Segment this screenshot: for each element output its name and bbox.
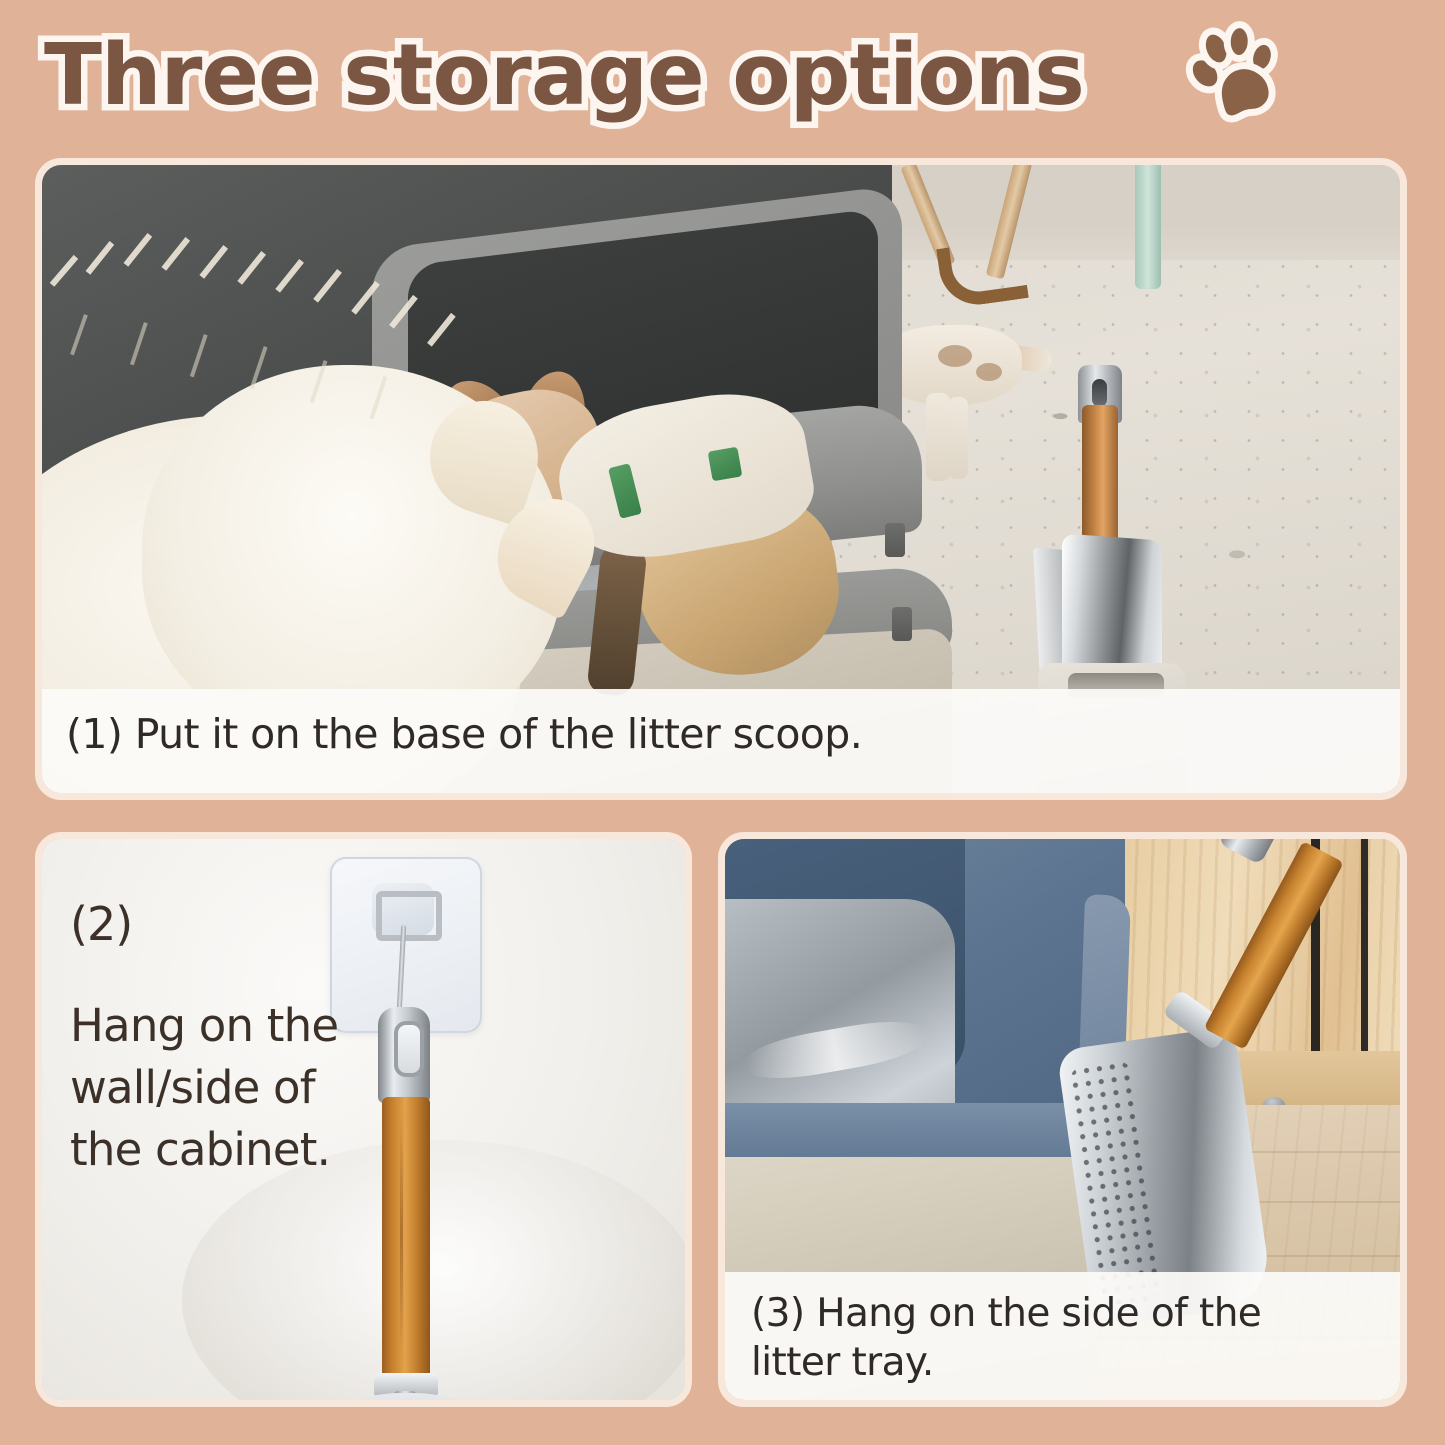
photo-option-3: (3) Hang on the side of the litter tray. [725, 839, 1400, 1400]
hook-ring-icon [376, 891, 442, 941]
option-2-line-2: wall/side of [70, 1057, 360, 1119]
caption-option-3-line-2: litter tray. [751, 1339, 1400, 1388]
wood-grain [400, 1115, 403, 1355]
litter-box-latch [892, 607, 912, 641]
caption-option-1: (1) Put it on the base of the litter sco… [66, 709, 1400, 760]
caption-bar-option-3: (3) Hang on the side of the litter tray. [725, 1272, 1400, 1400]
scoop-wooden-handle [382, 1097, 430, 1379]
panel-option-2: (2) Hang on the wall/side of the cabinet… [35, 832, 692, 1407]
caption-option-3-line-1: (3) Hang on the side of the [751, 1290, 1400, 1339]
option-2-number: (2) [70, 901, 360, 947]
panel-option-1: (1) Put it on the base of the litter sco… [35, 158, 1407, 800]
litter-box-latch [885, 523, 905, 557]
walking-cat-leg [926, 393, 950, 481]
garment-pattern [708, 447, 743, 482]
panel-option-3: (3) Hang on the side of the litter tray. [718, 832, 1407, 1407]
option-2-line-1: Hang on the [70, 995, 360, 1057]
walking-cat-leg [948, 397, 968, 479]
photo-option-2: (2) Hang on the wall/side of the cabinet… [42, 839, 685, 1400]
scoop-hanging-hole [394, 1021, 424, 1077]
scoop-hanging-hole [1092, 379, 1107, 407]
infographic-root: Three storage options [0, 0, 1445, 1445]
caption-bar-option-1: (1) Put it on the base of the litter sco… [42, 689, 1400, 793]
paw-print-icon [1176, 20, 1286, 130]
caption-option-2: (2) Hang on the wall/side of the cabinet… [70, 901, 360, 1181]
page-title: Three storage options [44, 33, 1084, 118]
option-2-line-3: the cabinet. [70, 1119, 360, 1181]
green-pole [1135, 165, 1161, 289]
header: Three storage options [0, 0, 1445, 150]
